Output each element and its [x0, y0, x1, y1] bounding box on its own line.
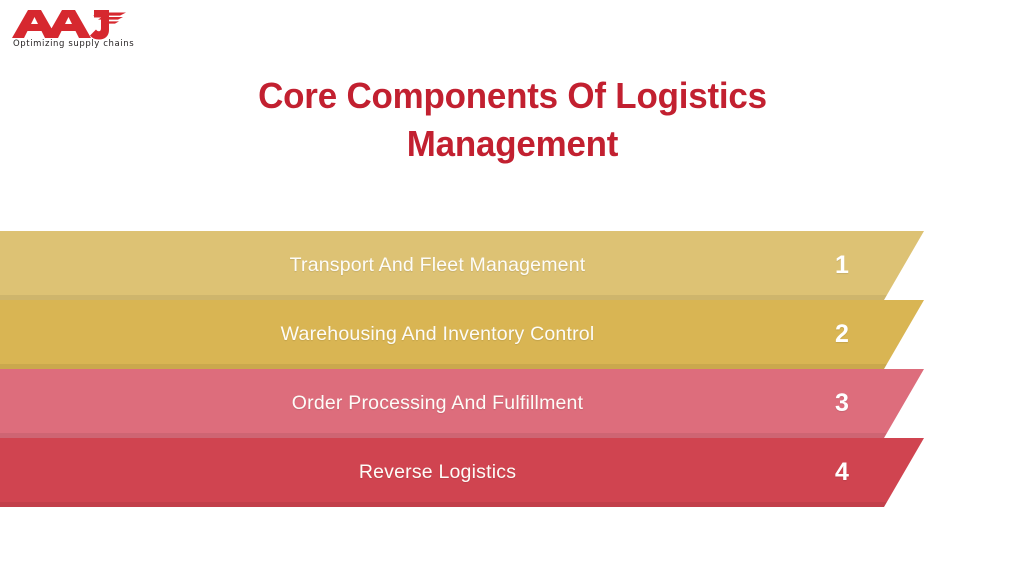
list-item[interactable]: Transport And Fleet Management 1 [0, 231, 1024, 300]
list-item[interactable]: Warehousing And Inventory Control 2 [0, 300, 1024, 369]
page-title: Core Components Of Logistics Management [200, 72, 826, 167]
banner-number-4: 4 [826, 438, 858, 507]
banner-number-1: 1 [826, 231, 858, 300]
list-item[interactable]: Reverse Logistics 4 [0, 438, 1024, 507]
banner-label-2: Warehousing And Inventory Control [0, 300, 875, 369]
banner-list: Transport And Fleet Management 1 Warehou… [0, 231, 1024, 508]
aaj-logo-icon [10, 6, 132, 42]
banner-number-2: 2 [826, 300, 858, 369]
banner-label-3: Order Processing And Fulfillment [0, 369, 875, 438]
banner-number-3: 3 [826, 369, 858, 438]
banner-label-1: Transport And Fleet Management [0, 231, 875, 300]
list-item[interactable]: Order Processing And Fulfillment 3 [0, 369, 1024, 438]
brand-logo: Optimizing supply chains [10, 6, 140, 58]
banner-label-4: Reverse Logistics [0, 438, 875, 507]
logo-tagline: Optimizing supply chains [10, 39, 140, 49]
